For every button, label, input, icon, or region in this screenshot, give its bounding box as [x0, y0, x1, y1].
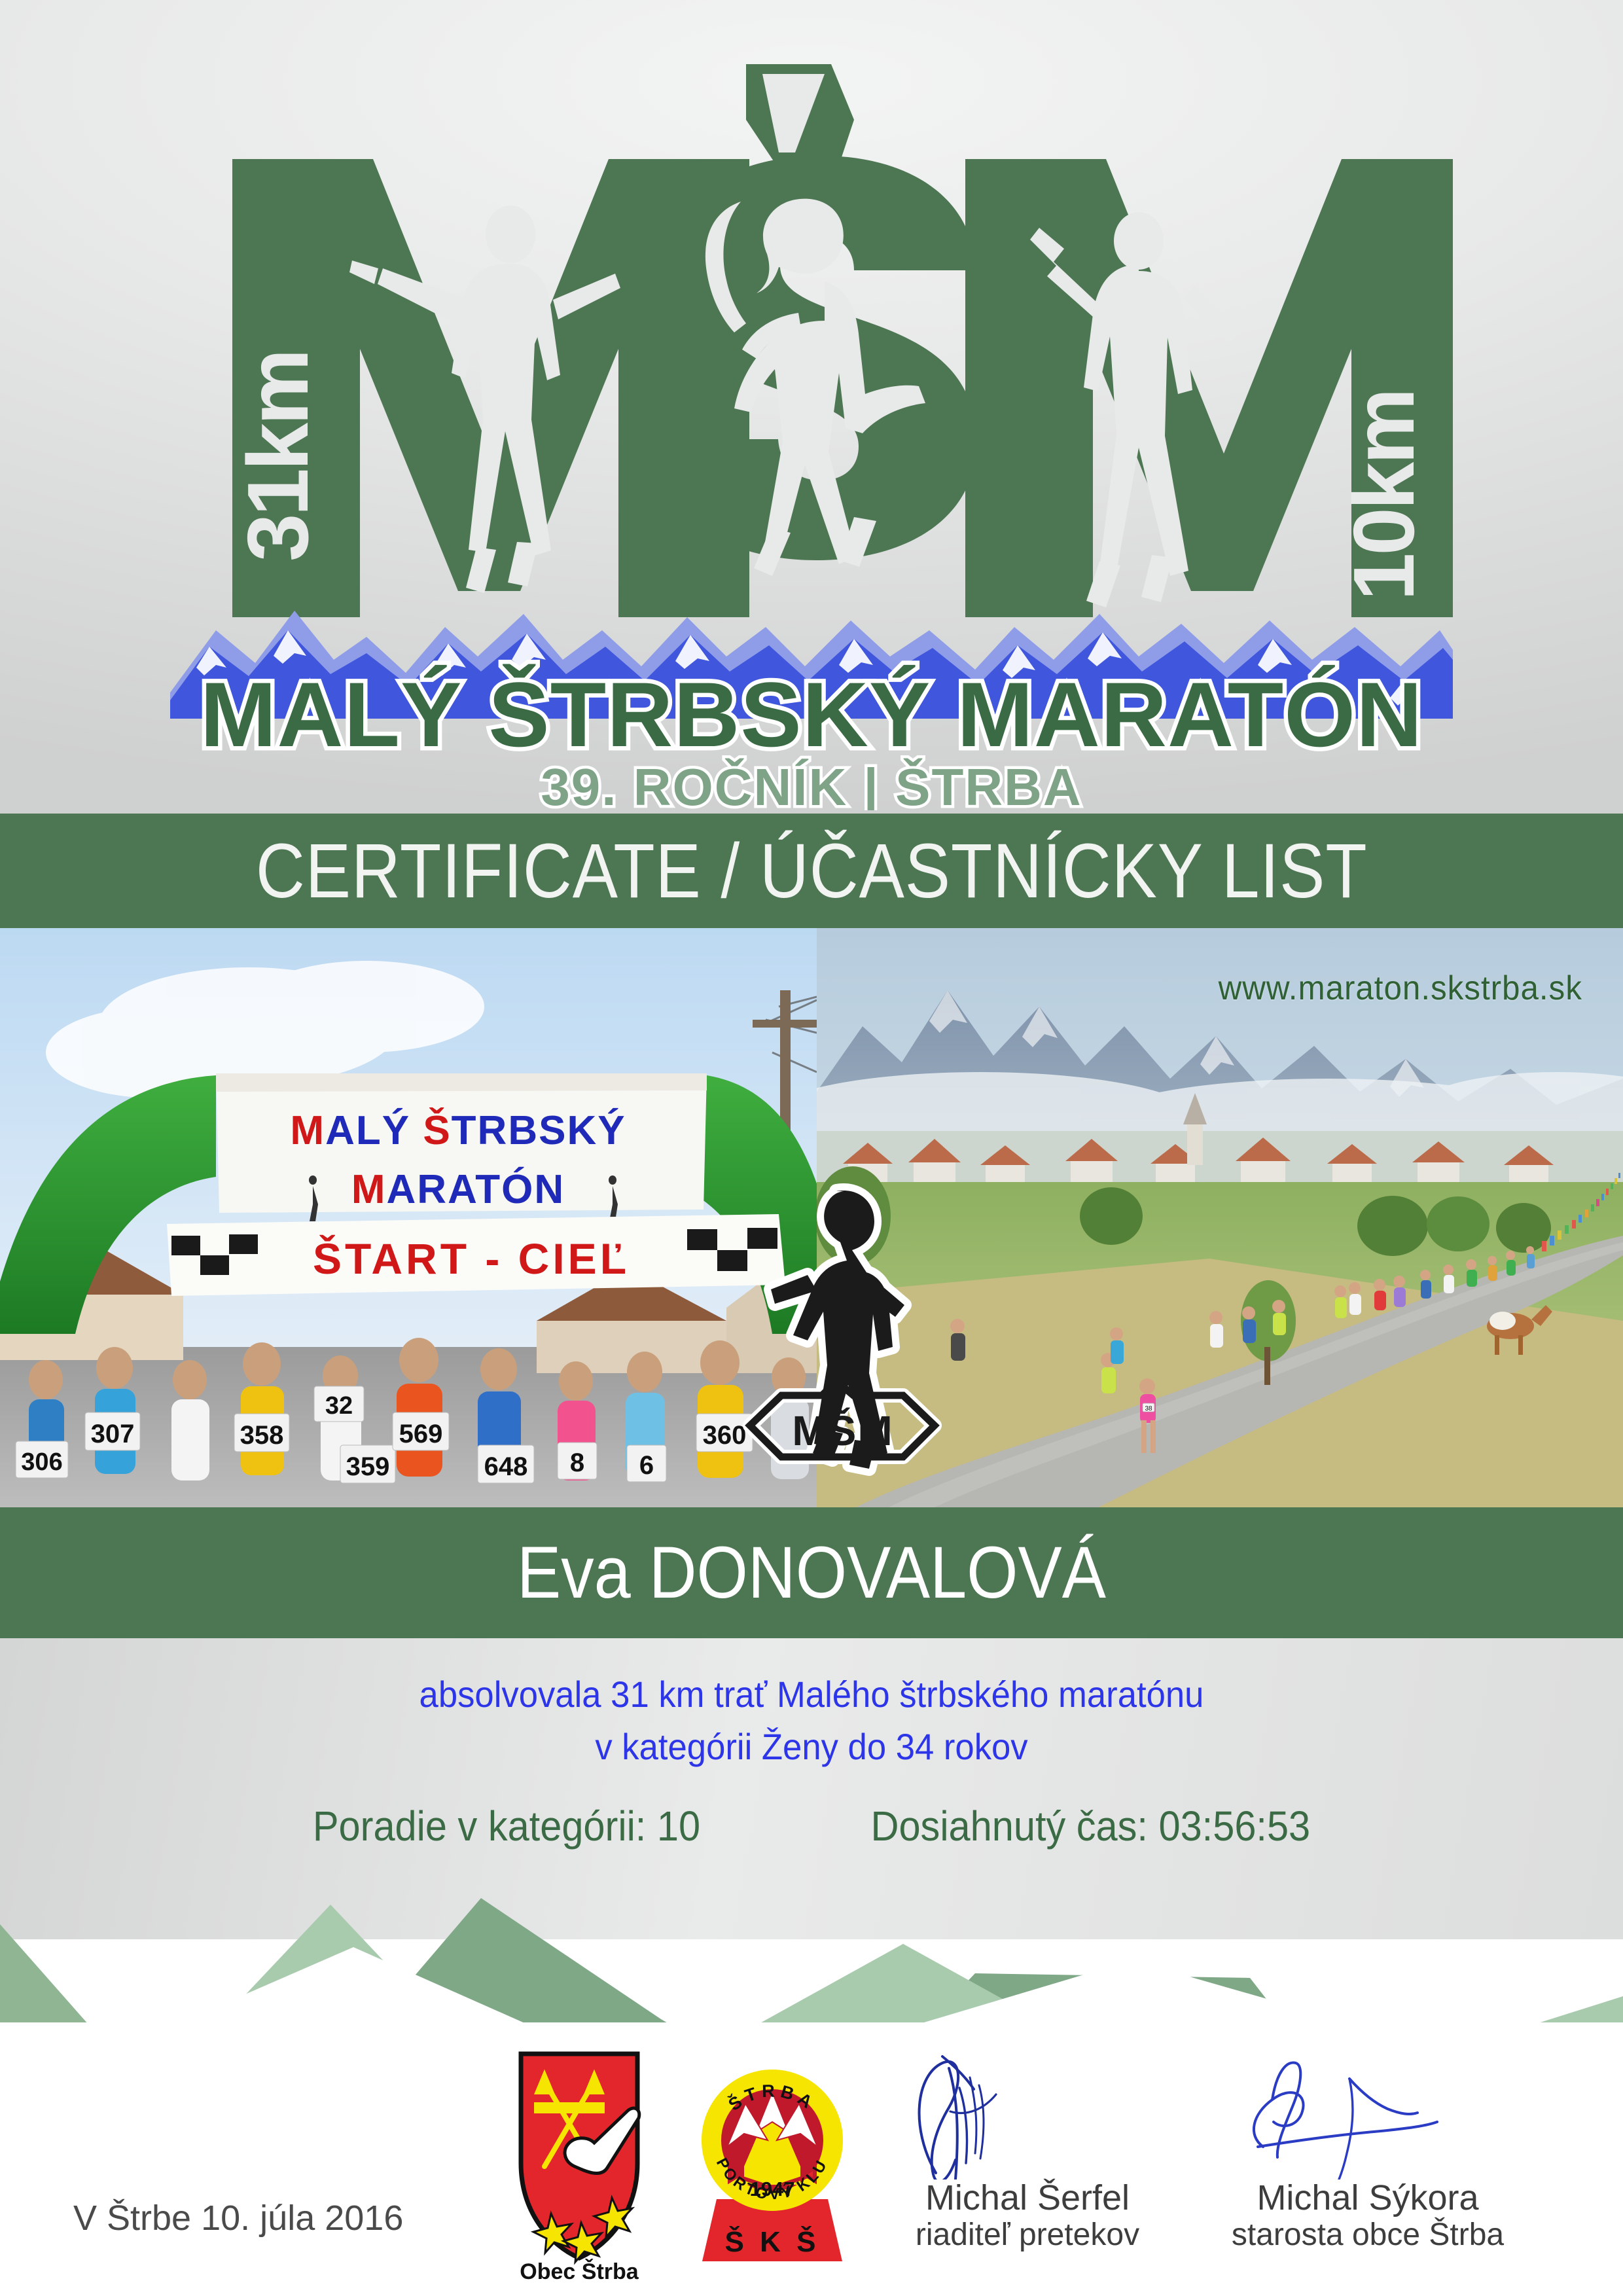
bib-number: 6: [627, 1445, 666, 1482]
obec-crest-label: Obec Štrba: [520, 2259, 639, 2284]
svg-text:569: 569: [399, 1420, 443, 1448]
msm-logo-graphic: 31km 10km: [170, 38, 1453, 810]
logo-subtitle: 39. ROČNÍK | ŠTRBA: [541, 758, 1082, 810]
description-line-1: absolvovala 31 km trať Malého štrbského …: [48, 1668, 1574, 1721]
obec-strba-crest-icon: Obec Štrba: [497, 2042, 661, 2284]
club-abbr: Š K Š: [725, 2225, 820, 2258]
svg-text:31km: 31km: [230, 351, 326, 562]
signatory-role-director: riaditeľ pretekov: [844, 2217, 1211, 2253]
certificate-title: CERTIFICATE / ÚČASTNÍCKY LIST: [256, 833, 1368, 910]
svg-text:648: 648: [484, 1452, 528, 1481]
certificate-page: 31km 10km: [0, 0, 1623, 2296]
sks-strba-club-logo-icon: ŠTRBA ŠPORTOVÝ KLUB 1947 Š K Š: [690, 2036, 854, 2284]
bib-number: 306: [16, 1441, 68, 1478]
signatory-name-director: Michal Šerfel: [844, 2179, 1211, 2217]
achievement-description: absolvovala 31 km trať Malého štrbského …: [48, 1668, 1574, 1772]
svg-text:8: 8: [570, 1448, 584, 1477]
signature-director-icon: [844, 2049, 1211, 2179]
description-line-2: v kategórii Ženy do 34 rokov: [48, 1721, 1574, 1773]
event-logo: 31km 10km: [0, 0, 1623, 814]
svg-text:6: 6: [639, 1451, 654, 1480]
svg-text:358: 358: [240, 1421, 284, 1450]
issue-date: V Štrbe 10. júla 2016: [73, 2198, 403, 2238]
certificate-title-band: CERTIFICATE / ÚČASTNÍCKY LIST: [0, 814, 1623, 928]
svg-text:32: 32: [325, 1392, 353, 1420]
start-line-illustration: MALÝ ŠTRBSKÝ MARATÓN: [0, 928, 817, 1507]
msm-runner-emblem: MŠM: [738, 1165, 961, 1479]
svg-text:MALÝ ŠTRBSKÝ: MALÝ ŠTRBSKÝ: [290, 1108, 626, 1153]
category-rank: Poradie v kategórii: 10: [313, 1802, 700, 1850]
participant-name: Eva DONOVALOVÁ: [517, 1536, 1106, 1609]
event-website-url: www.maraton.skstrba.sk: [1218, 969, 1582, 1008]
svg-text:ŠTART - CIEĽ: ŠTART - CIEĽ: [313, 1234, 630, 1283]
finish-time: Dosiahnutý čas: 03:56:53: [870, 1802, 1310, 1850]
svg-text:MARATÓN: MARATÓN: [351, 1167, 565, 1212]
signature-mayor-icon: [1185, 2049, 1551, 2179]
hero-header: 31km 10km: [0, 0, 1623, 814]
club-year: 1947: [750, 2178, 795, 2200]
result-row: Poradie v kategórii: 10 Dosiahnutý čas: …: [57, 1802, 1566, 1850]
bib-number: 358: [234, 1414, 289, 1452]
svg-text:359: 359: [346, 1452, 390, 1481]
logo-title: MALÝ ŠTRBSKÝ MARATÓN: [200, 663, 1423, 766]
bib-number: 569: [393, 1412, 449, 1450]
bib-number: 359: [340, 1445, 395, 1483]
participant-name-band: Eva DONOVALOVÁ: [0, 1507, 1623, 1638]
svg-text:38: 38: [1145, 1405, 1152, 1412]
svg-text:307: 307: [91, 1420, 135, 1448]
bib-number: 307: [85, 1412, 140, 1450]
signature-block-mayor: Michal Sýkora starosta obce Štrba: [1185, 2049, 1551, 2253]
bib-number: 38: [1143, 1403, 1154, 1412]
signatory-role-mayor: starosta obce Štrba: [1185, 2217, 1551, 2253]
signature-block-director: Michal Šerfel riaditeľ pretekov: [844, 2049, 1211, 2253]
bib-number: 648: [478, 1445, 534, 1483]
bib-number: 32: [314, 1386, 364, 1422]
signatory-name-mayor: Michal Sýkora: [1185, 2179, 1551, 2217]
svg-text:10km: 10km: [1336, 390, 1432, 601]
bib-number: 8: [558, 1443, 597, 1479]
emblem-label: MŠM: [792, 1407, 893, 1454]
svg-text:306: 306: [21, 1448, 62, 1476]
photo-start-line: MALÝ ŠTRBSKÝ MARATÓN: [0, 928, 817, 1507]
